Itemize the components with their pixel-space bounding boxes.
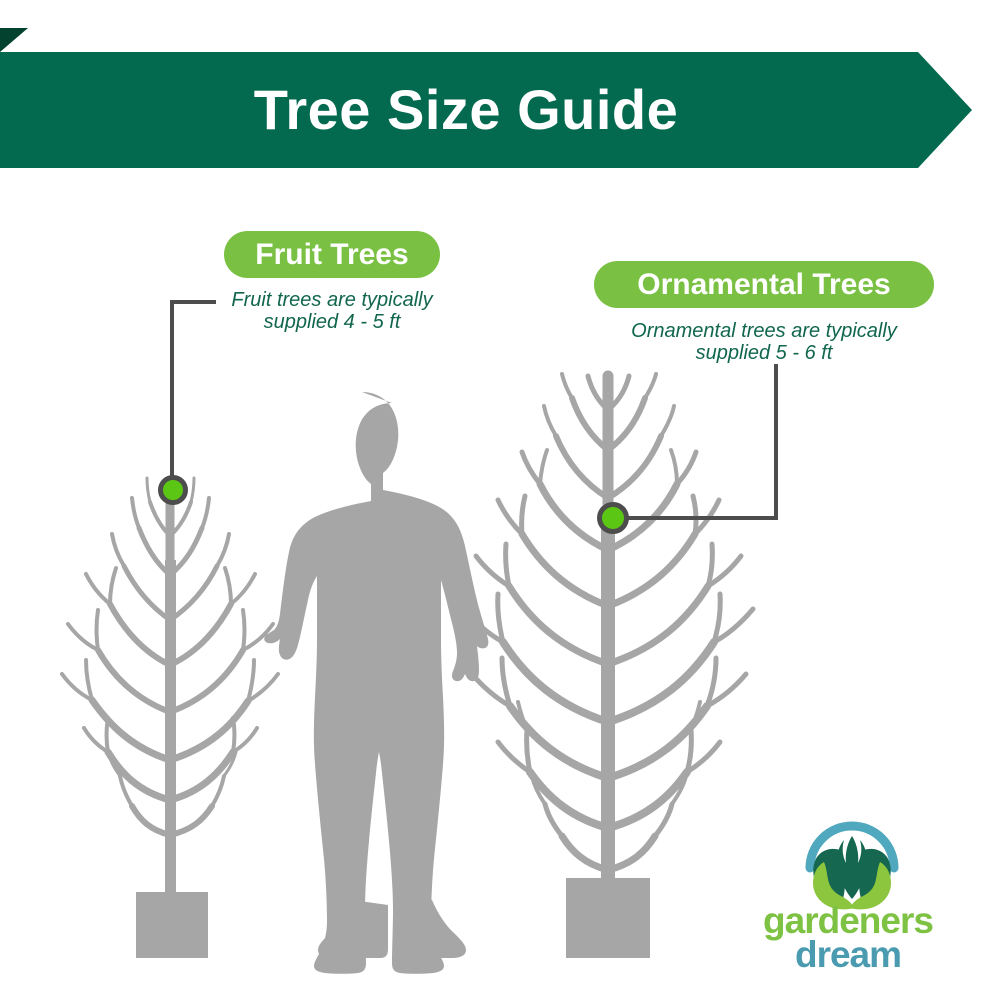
fruit-leader-line-horizontal <box>172 300 216 304</box>
fruit-trees-badge: Fruit Trees <box>224 231 440 278</box>
logo-word-dream: dream <box>748 938 948 972</box>
fruit-tree-pot <box>136 892 208 958</box>
logo-wordmark: gardeners dream <box>748 904 948 966</box>
ornamental-tree-illustration <box>464 374 753 900</box>
ornamental-leader-line-horizontal <box>614 516 776 520</box>
fruit-tree-illustration <box>62 478 278 900</box>
ornamental-tree-trunk <box>601 520 615 900</box>
ornamental-trees-caption: Ornamental trees are typically supplied … <box>604 320 924 365</box>
banner-fold-corner <box>0 28 28 52</box>
page-title: Tree Size Guide <box>254 82 719 138</box>
ornamental-trees-badge: Ornamental Trees <box>594 261 934 308</box>
logo-word-gardeners: gardeners <box>748 904 948 938</box>
brand-logo: gardeners dream <box>748 806 948 966</box>
ornamental-leader-line-vertical <box>774 364 778 520</box>
ornamental-tree-height-marker <box>597 502 629 534</box>
fruit-leader-line-vertical <box>170 300 174 490</box>
person-right-shoe <box>396 900 466 958</box>
fruit-trees-caption: Fruit trees are typically supplied 4 - 5… <box>212 289 452 334</box>
ornamental-tree-pot <box>566 878 650 958</box>
fruit-tree-trunk <box>165 560 176 900</box>
gardeners-dream-logo-icon <box>800 806 904 910</box>
person-left-shoe <box>318 900 388 958</box>
person-silhouette <box>264 392 488 974</box>
header-banner: Tree Size Guide <box>0 28 1000 168</box>
person-body <box>264 392 488 974</box>
fruit-tree-height-marker <box>158 475 188 505</box>
banner-ribbon: Tree Size Guide <box>0 52 972 168</box>
